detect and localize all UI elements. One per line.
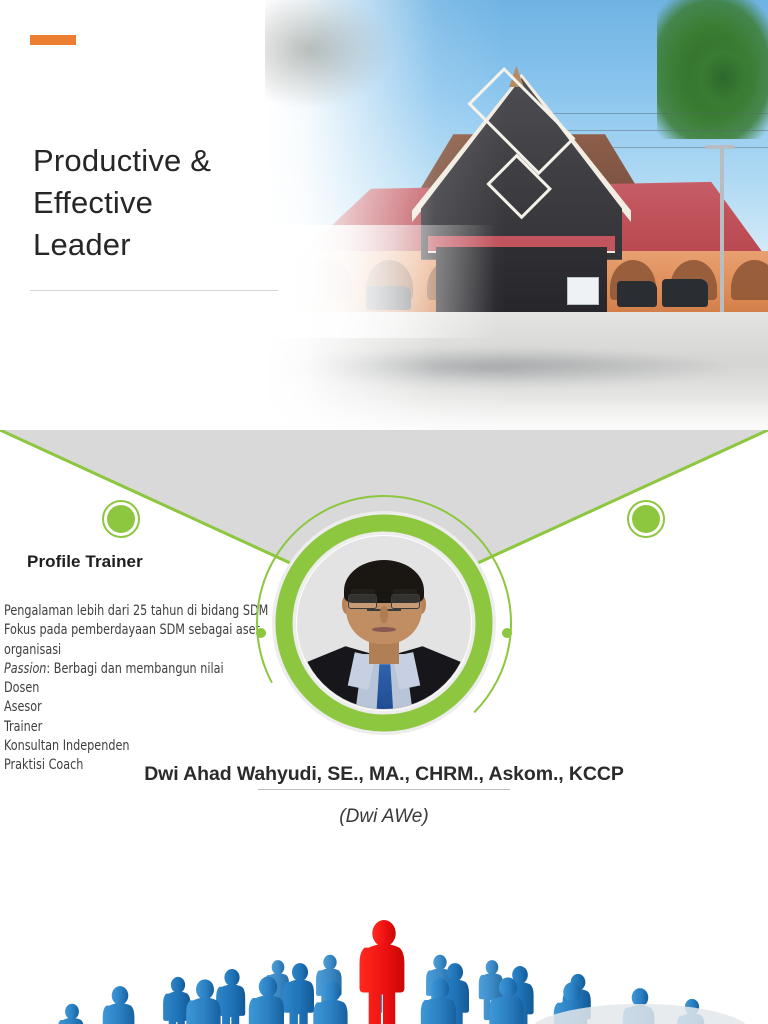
slide-canvas: Productive & Effective Leader Profile Tr…: [0, 0, 768, 1024]
arc-end-dot-right: [502, 628, 512, 638]
person-figure: [58, 1004, 84, 1024]
profile-item: Asesor: [4, 698, 219, 717]
profile-item: organisasi: [4, 641, 219, 660]
person-figure: [283, 963, 314, 1024]
profile-detail-list: Pengalaman lebih dari 25 tahun di bidang…: [4, 602, 219, 776]
arc-end-dot-left: [256, 628, 266, 638]
passion-label: Passion: [4, 661, 46, 677]
rektorat-building-photo: [265, 0, 768, 433]
person-figure: [103, 986, 135, 1024]
profile-item: Dosen: [4, 679, 219, 698]
palm-tree-icon: [265, 0, 391, 108]
profile-item: Konsultan Independen: [4, 737, 219, 756]
street-light-arm: [705, 145, 735, 149]
profile-heading: Profile Trainer: [27, 552, 143, 572]
parked-vehicle: [662, 279, 707, 307]
trainer-name: Dwi Ahad Wahyudi, SE., MA., CHRM., Askom…: [0, 763, 768, 786]
title-line-2: Effective: [33, 182, 263, 224]
profile-item: Trainer: [4, 718, 219, 737]
parked-vehicle: [617, 281, 657, 307]
wall-left-fade: [265, 225, 496, 338]
person-figure: [186, 979, 220, 1024]
passion-rest: : Berbagi dan membangun nilai: [46, 661, 223, 677]
crowd-of-people-with-red-leader: [0, 864, 768, 1024]
trainer-portrait-photo: [298, 537, 470, 709]
profile-item: Fokus pada pemberdayaan SDM sebagai aset: [4, 621, 219, 640]
arch-icon: [731, 260, 768, 301]
title-line-3: Leader: [33, 224, 263, 266]
profile-item: Pengalaman lebih dari 25 tahun di bidang…: [4, 602, 219, 621]
profile-item-passion: Passion: Berbagi dan membangun nilai: [4, 660, 219, 679]
trainer-portrait-frame: [253, 492, 515, 754]
glasses-lens-right: [391, 594, 420, 609]
tree-right-lower-icon: [688, 39, 758, 117]
page-title: Productive & Effective Leader: [33, 140, 263, 266]
left-accent-dot: [107, 505, 135, 533]
glasses-lens-left: [348, 594, 377, 609]
portrait-nose: [380, 606, 389, 623]
title-divider: [30, 290, 278, 291]
trainer-alias: (Dwi AWe): [0, 806, 768, 828]
right-accent-dot: [632, 505, 660, 533]
accent-bar: [30, 35, 76, 45]
street-light-pole: [720, 147, 724, 320]
notice-board: [567, 277, 599, 305]
trainer-name-underline: [258, 789, 510, 790]
title-line-1: Productive &: [33, 140, 263, 182]
